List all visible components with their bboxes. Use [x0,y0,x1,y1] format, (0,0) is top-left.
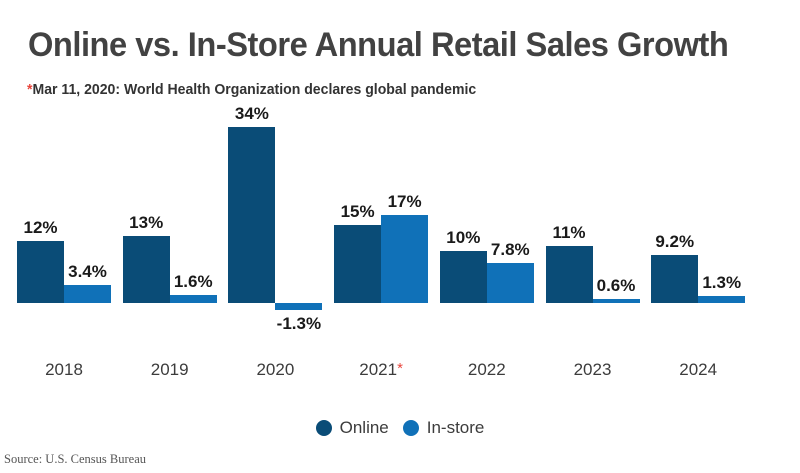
bar-group-2019: 13%1.6% [123,110,217,310]
bar-value-label: -1.3% [275,315,322,332]
bar-instore-2020[interactable] [275,303,322,310]
asterisk-marker: * [397,360,403,377]
bar-value-label: 1.6% [170,273,217,290]
bar-value-label: 7.8% [487,241,534,258]
bar-value-label: 9.2% [651,233,698,250]
source-note: Source: U.S. Census Bureau [4,452,146,467]
axis-tick-2021: 2021* [334,360,428,380]
bar-value-label: 1.3% [698,274,745,291]
bar-group-2018: 12%3.4% [17,110,111,310]
axis-tick-2024: 2024 [651,360,745,380]
bar-online-2023[interactable] [546,246,593,303]
bar-group-2020: 34%-1.3% [228,110,322,310]
bar-value-label: 34% [228,105,275,122]
bar-value-label: 11% [546,224,593,241]
subtitle-text: Mar 11, 2020: World Health Organization … [32,82,476,98]
bar-instore-2018[interactable] [64,285,111,303]
bar-online-2018[interactable] [17,241,64,303]
axis-tick-2018: 2018 [17,360,111,380]
bar-instore-2023[interactable] [593,299,640,303]
axis-tick-2019: 2019 [123,360,217,380]
bar-value-label: 3.4% [64,263,111,280]
plot-area: 12%3.4%13%1.6%34%-1.3%15%17%10%7.8%11%0.… [0,110,800,310]
chart-legend: OnlineIn-store [0,418,800,438]
bar-group-2023: 11%0.6% [546,110,640,310]
chart-container: Online vs. In-Store Annual Retail Sales … [0,0,800,473]
bar-instore-2021[interactable] [381,215,428,303]
x-axis: 2018201920202021*202220232024 [0,360,800,388]
filled-circle-icon [316,420,332,436]
legend-label: In-store [427,418,485,438]
axis-tick-2023: 2023 [546,360,640,380]
bar-instore-2024[interactable] [698,296,745,303]
bar-online-2020[interactable] [228,127,275,303]
axis-tick-2022: 2022 [440,360,534,380]
legend-label: Online [340,418,389,438]
page-title: Online vs. In-Store Annual Retail Sales … [28,26,728,65]
bar-online-2021[interactable] [334,225,381,303]
bar-online-2024[interactable] [651,255,698,303]
bar-group-2021: 15%17% [334,110,428,310]
bar-value-label: 0.6% [593,277,640,294]
legend-item-instore[interactable]: In-store [403,418,485,438]
chart-subtitle: *Mar 11, 2020: World Health Organization… [27,82,476,98]
bar-instore-2022[interactable] [487,263,534,303]
bar-group-2022: 10%7.8% [440,110,534,310]
bar-value-label: 12% [17,219,64,236]
legend-item-online[interactable]: Online [316,418,389,438]
bar-online-2022[interactable] [440,251,487,303]
bar-value-label: 17% [381,193,428,210]
bar-value-label: 15% [334,203,381,220]
bar-group-2024: 9.2%1.3% [651,110,745,310]
filled-circle-icon [403,420,419,436]
bar-value-label: 10% [440,229,487,246]
bar-online-2019[interactable] [123,236,170,303]
axis-tick-2020: 2020 [228,360,322,380]
bar-instore-2019[interactable] [170,295,217,303]
bar-value-label: 13% [123,214,170,231]
